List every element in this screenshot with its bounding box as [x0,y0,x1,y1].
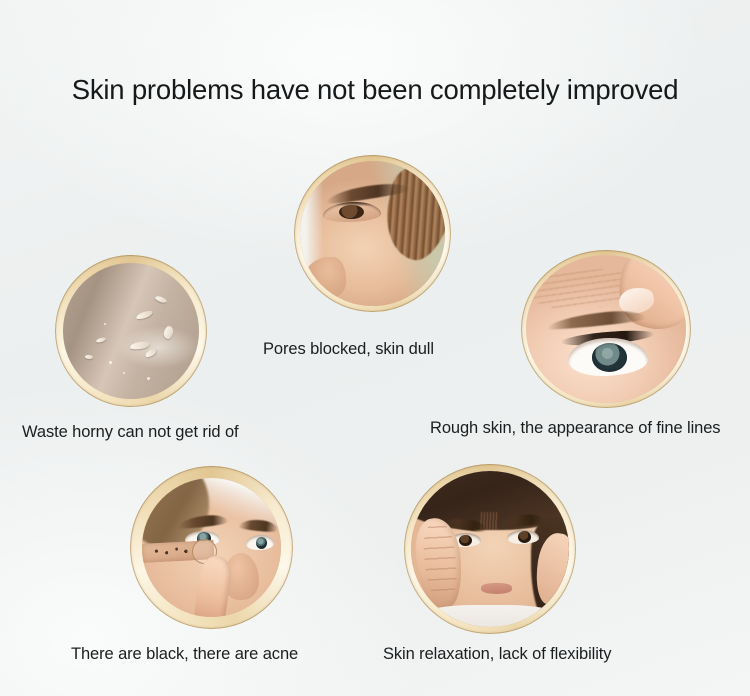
caption-pores-blocked: Pores blocked, skin dull [263,340,434,359]
dull-skin-photo [300,161,445,306]
problem-circle-waste-horny[interactable] [55,255,207,407]
waste-horny-photo [63,263,199,399]
skin-flakes-photo [63,263,199,399]
page-title: Skin problems have not been completely i… [0,74,750,106]
sagging-skin-photo [411,471,569,627]
caption-blackheads-acne: There are black, there are acne [71,645,298,664]
acne-photo-art [142,478,281,617]
skin-problems-poster: Skin problems have not been completely i… [0,0,750,696]
caption-waste-horny: Waste horny can not get rid of [22,423,239,442]
caption-skin-relaxation: Skin relaxation, lack of flexibility [383,645,611,664]
caption-fine-lines: Rough skin, the appearance of fine lines [430,419,720,438]
fine-lines-photo-art [526,255,686,403]
problem-circle-blackheads-acne[interactable] [130,466,293,629]
problem-circle-fine-lines[interactable] [521,250,691,408]
pores-blocked-photo [300,161,445,306]
problem-circle-skin-relaxation[interactable] [404,464,576,634]
acne-photo [142,478,281,617]
sagging-skin-photo-art [411,471,569,627]
problem-circle-pores-blocked[interactable] [294,155,451,312]
fine-lines-photo [526,255,686,403]
